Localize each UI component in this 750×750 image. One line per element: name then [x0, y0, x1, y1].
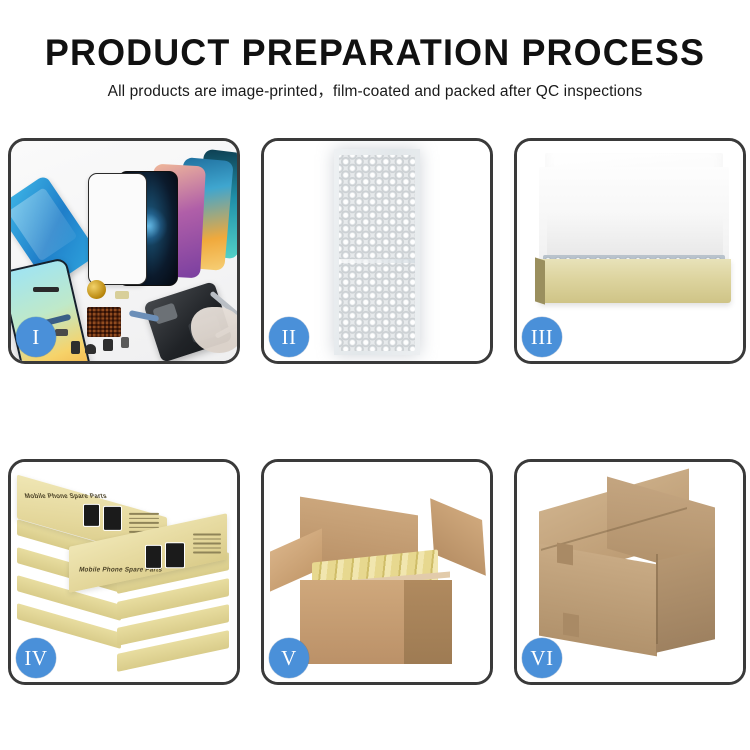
carton-tape-top [557, 543, 573, 566]
small-part-3 [103, 339, 113, 351]
page-subtitle: All products are image-printed，film-coat… [0, 82, 750, 102]
step-card-5: V [261, 459, 493, 685]
step-badge-3: III [522, 317, 562, 357]
box-text-lines-2 [193, 533, 221, 556]
step-card-6: VI [514, 459, 746, 685]
steps-grid: I II III [8, 138, 742, 742]
chip-grid-part [87, 307, 121, 337]
box-tray [539, 259, 731, 303]
carton-tape-bottom [563, 613, 579, 638]
connector-part [33, 287, 59, 292]
small-part-6 [115, 291, 129, 299]
step-card-4: Mobile Phone Spare Parts Mobile Phone Sp… [8, 459, 240, 685]
small-part-2 [85, 344, 96, 354]
step-badge-2: II [269, 317, 309, 357]
header: PRODUCT PREPARATION PROCESS All products… [0, 0, 750, 102]
box-lcd-image-3 [145, 545, 162, 569]
product-preparation-infographic: PRODUCT PREPARATION PROCESS All products… [0, 0, 750, 750]
page-title: PRODUCT PREPARATION PROCESS [11, 32, 739, 74]
step-badge-1: I [16, 317, 56, 357]
step-badge-4: IV [16, 638, 56, 678]
box-lcd-image-4 [165, 542, 185, 568]
bubble-wrap-sheet [339, 155, 415, 351]
coil-part [87, 280, 106, 299]
carton-vertical-seam [656, 554, 658, 644]
carton-flap-right [430, 498, 486, 575]
step-badge-6: VI [522, 638, 562, 678]
foam-sheet [547, 215, 723, 255]
wrap-seam [339, 259, 415, 263]
small-part-4 [121, 337, 129, 348]
carton-right-panel [656, 547, 715, 653]
step-card-3: III [514, 138, 746, 364]
box-lcd-image-1 [83, 504, 100, 527]
carton-body-right [404, 580, 452, 664]
step-badge-5: V [269, 638, 309, 678]
box-lcd-image-2 [103, 506, 122, 531]
carton-body-left [300, 580, 404, 664]
box-label-top: Mobile Phone Spare Parts [24, 493, 108, 500]
tempered-glass [88, 173, 147, 285]
small-part-1 [71, 341, 80, 354]
small-part-5 [55, 329, 68, 336]
step-card-1: I [8, 138, 240, 364]
step-card-2: II [261, 138, 493, 364]
